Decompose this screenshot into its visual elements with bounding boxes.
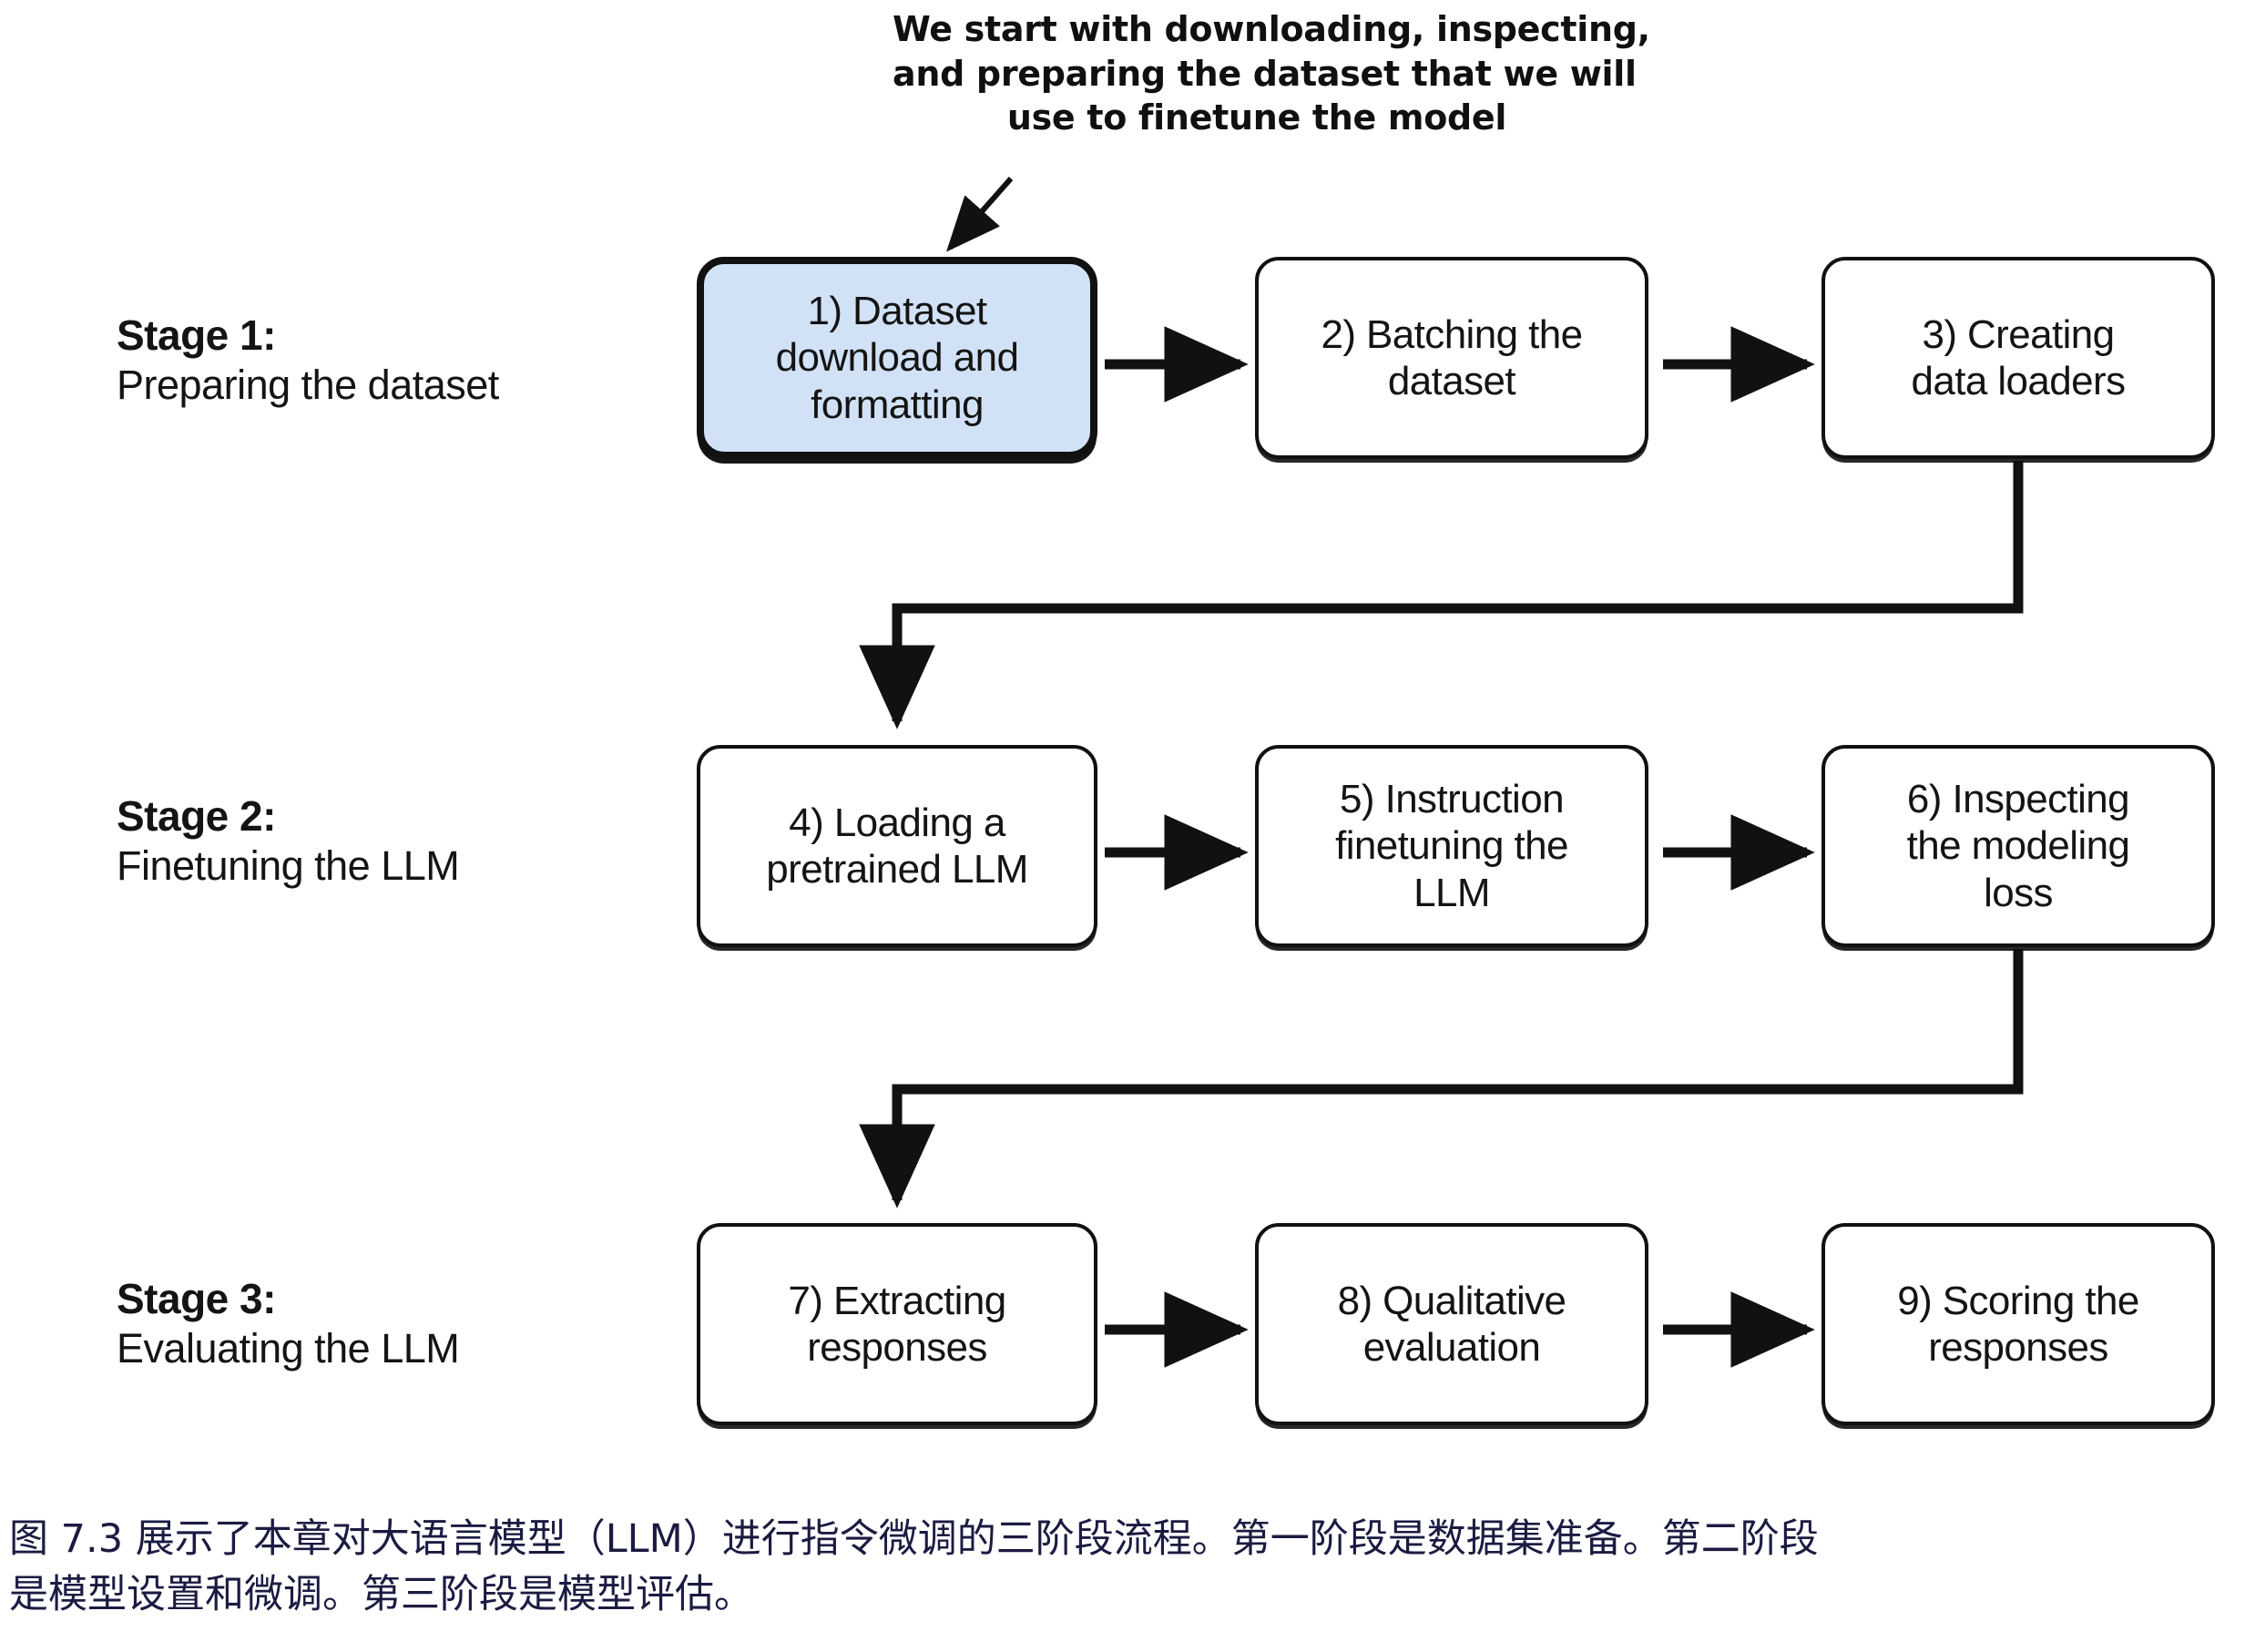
step-2-line-2: dataset xyxy=(1321,358,1583,404)
step-8-line-2: evaluation xyxy=(1338,1324,1566,1371)
annotation-line-1: We start with downloading, inspecting, xyxy=(893,7,1621,52)
annotation-line-2: and preparing the dataset that we will xyxy=(893,52,1621,97)
stage-3-subtitle: Evaluating the LLM xyxy=(117,1324,681,1374)
step-box-5[interactable]: 5) Instruction finetuning the LLM xyxy=(1255,745,1648,947)
step-5-line-2: finetuning the xyxy=(1335,822,1568,869)
stage-3-title: Stage 3: xyxy=(117,1273,681,1324)
step-box-9[interactable]: 9) Scoring the responses xyxy=(1821,1223,2215,1425)
step-box-2[interactable]: 2) Batching the dataset xyxy=(1255,257,1648,459)
annotation-line-3: use to finetune the model xyxy=(893,96,1621,140)
step-box-6[interactable]: 6) Inspecting the modeling loss xyxy=(1821,745,2215,947)
stage-label-2: Stage 2: Finetuning the LLM xyxy=(117,790,681,892)
connector-step3-to-step4 xyxy=(897,461,2018,721)
stage-2-title: Stage 2: xyxy=(117,790,681,841)
stage-1-subtitle: Preparing the dataset xyxy=(117,361,681,411)
stage-label-3: Stage 3: Evaluating the LLM xyxy=(117,1273,681,1374)
stage-2-subtitle: Finetuning the LLM xyxy=(117,841,681,892)
connector-step6-to-step7 xyxy=(897,949,2018,1200)
step-7-line-2: responses xyxy=(788,1324,1005,1371)
step-1-line-2: download and xyxy=(776,334,1019,381)
step-6-line-2: the modeling xyxy=(1907,822,2130,869)
step-9-line-2: responses xyxy=(1897,1324,2139,1371)
step-1-line-1: 1) Dataset xyxy=(776,288,1019,334)
figure-caption-line-1: 图 7.3 展示了本章对大语言模型（LLM）进行指令微调的三阶段流程。第一阶段是… xyxy=(9,1512,2250,1567)
annotation-pointer-arrow xyxy=(950,178,1011,248)
stage-label-1: Stage 1: Preparing the dataset xyxy=(117,310,681,411)
step-box-1[interactable]: 1) Dataset download and formatting xyxy=(697,257,1097,459)
step-4-line-2: pretrained LLM xyxy=(766,846,1028,892)
annotation-callout: We start with downloading, inspecting, a… xyxy=(893,7,1621,140)
step-4-line-1: 4) Loading a xyxy=(766,800,1028,846)
step-box-7[interactable]: 7) Extracting responses xyxy=(697,1223,1097,1425)
step-6-line-1: 6) Inspecting xyxy=(1907,776,2130,822)
step-9-line-1: 9) Scoring the xyxy=(1897,1278,2139,1324)
step-3-line-1: 3) Creating xyxy=(1912,311,2126,358)
figure-caption: 图 7.3 展示了本章对大语言模型（LLM）进行指令微调的三阶段流程。第一阶段是… xyxy=(9,1512,2250,1623)
step-box-8[interactable]: 8) Qualitative evaluation xyxy=(1255,1223,1648,1425)
step-6-line-3: loss xyxy=(1907,870,2130,916)
step-box-4[interactable]: 4) Loading a pretrained LLM xyxy=(697,745,1097,947)
step-2-line-1: 2) Batching the xyxy=(1321,311,1583,358)
stage-1-title: Stage 1: xyxy=(117,310,681,361)
figure-caption-line-2: 是模型设置和微调。第三阶段是模型评估。 xyxy=(9,1567,2250,1623)
step-7-line-1: 7) Extracting xyxy=(788,1278,1005,1324)
step-1-line-3: formatting xyxy=(776,382,1019,428)
step-box-3[interactable]: 3) Creating data loaders xyxy=(1821,257,2215,459)
step-5-line-3: LLM xyxy=(1335,870,1568,916)
step-8-line-1: 8) Qualitative xyxy=(1338,1278,1566,1324)
step-3-line-2: data loaders xyxy=(1912,358,2126,404)
step-5-line-1: 5) Instruction xyxy=(1335,776,1568,822)
